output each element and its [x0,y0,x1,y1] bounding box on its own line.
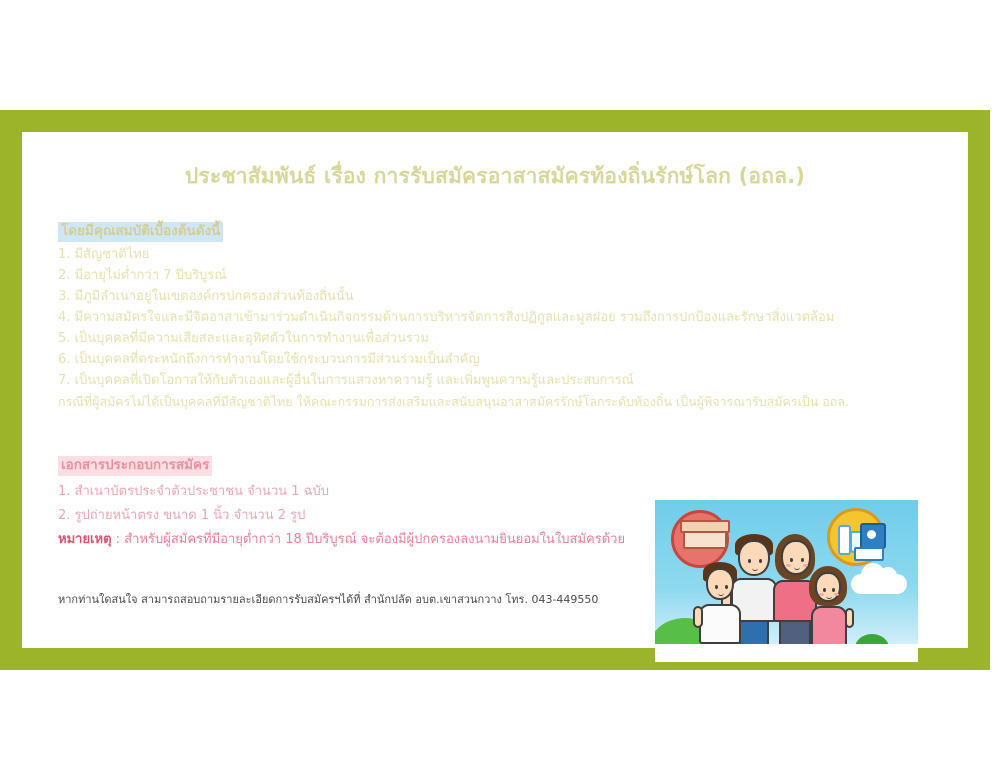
poster-green-frame: ประชาสัมพันธ์ เรื่อง การรับสมัครอาสาสมัค… [0,110,990,670]
documents-heading: เอกสารประกอบการสมัคร [58,456,212,476]
list-item: 1. มีสัญชาติไทย [58,244,938,265]
list-item: 4. มีความสมัครใจและมีจิตอาสาเข้ามาร่วมดำ… [58,307,938,328]
documents-heading-wrap: เอกสารประกอบการสมัคร [58,454,938,476]
list-item: 7. เป็นบุคคลที่เปิดโอกาสให้กับตัวเองและผ… [58,370,938,391]
waste-bin-bubble-icon [671,510,729,568]
poster-canvas: ประชาสัมพันธ์ เรื่อง การรับสมัครอาสาสมัค… [22,132,968,648]
qualifications-note: กรณีที่ผู้สมัครไม่ได้เป็นบุคคลที่มีสัญชา… [58,391,938,412]
qualifications-list: 1. มีสัญชาติไทย 2. มีอายุไม่ต่ำกว่า 7 ปี… [58,244,938,412]
ground-strip [655,644,918,662]
page-title: ประชาสัมพันธ์ เรื่อง การรับสมัครอาสาสมัค… [22,160,968,193]
list-item: 3. มีภูมิลำเนาอยู่ในเขตองค์กรปกครองส่วนท… [58,286,938,307]
list-item: 6. เป็นบุคคลที่ตระหนักถึงการทำงานโดยใช้ก… [58,349,938,370]
contact-line: หากท่านใดสนใจ สามารถสอบถามรายละเอียดการร… [58,590,598,608]
remark-label: หมายเหตุ [58,532,112,547]
family-recycling-illustration [655,500,918,662]
list-item: 2. มีอายุไม่ต่ำกว่า 7 ปีบริบูรณ์ [58,265,938,286]
cloud-icon [851,574,907,594]
list-item: 5. เป็นบุคคลที่มีความเสียสละและอุทิศตัวใ… [58,328,938,349]
recyclables-bubble-icon [827,508,885,566]
remark-text: : สำหรับผู้สมัครที่มีอายุต่ำกว่า 18 ปีบร… [112,532,626,547]
qualifications-heading: โดยมีคุณสมบัติเบื้องต้นดังนี้ [58,222,223,242]
qualifications-heading-wrap: โดยมีคุณสมบัติเบื้องต้นดังนี้ [58,220,938,242]
